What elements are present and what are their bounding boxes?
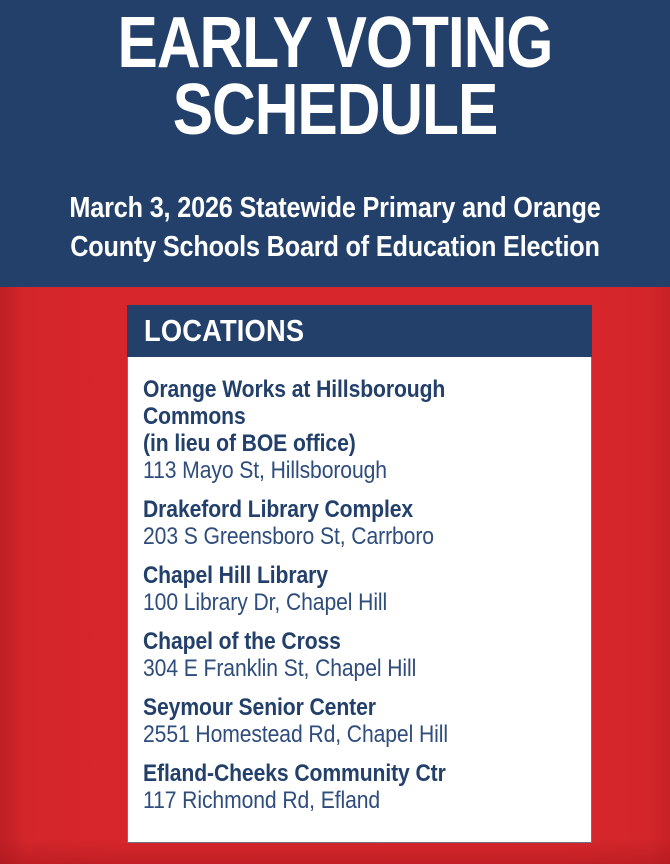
- location-name: Seymour Senior Center: [143, 694, 526, 721]
- locations-header-label: LOCATIONS: [144, 314, 304, 348]
- location-name: Drakeford Library Complex: [143, 496, 526, 523]
- early-voting-poster: EARLY VOTING SCHEDULE March 3, 2026 Stat…: [0, 0, 670, 864]
- locations-card-header: LOCATIONS: [127, 305, 592, 357]
- poster-title-line-1: EARLY VOTING: [54, 10, 617, 77]
- locations-list: Orange Works at Hillsborough Commons (in…: [127, 357, 592, 843]
- poster-subtitle-line-1: March 3, 2026 Statewide Primary and Oran…: [44, 189, 627, 228]
- location-address: 2551 Homestead Rd, Chapel Hill: [143, 721, 526, 749]
- location-address: 304 E Franklin St, Chapel Hill: [143, 655, 526, 683]
- list-item: Orange Works at Hillsborough Commons (in…: [143, 376, 578, 485]
- location-name: Efland-Cheeks Community Ctr: [143, 760, 526, 787]
- list-item: Efland-Cheeks Community Ctr 117 Richmond…: [143, 760, 578, 815]
- location-address: 117 Richmond Rd, Efland: [143, 787, 526, 815]
- list-item: Chapel Hill Library 100 Library Dr, Chap…: [143, 562, 578, 617]
- location-name: Chapel Hill Library: [143, 562, 526, 589]
- location-address: 100 Library Dr, Chapel Hill: [143, 589, 526, 617]
- poster-subtitle-block: March 3, 2026 Statewide Primary and Oran…: [0, 189, 670, 268]
- location-address: 203 S Greensboro St, Carrboro: [143, 523, 526, 551]
- poster-header-band: EARLY VOTING SCHEDULE March 3, 2026 Stat…: [0, 0, 670, 287]
- poster-title-line-2: SCHEDULE: [54, 77, 617, 144]
- poster-title-block: EARLY VOTING SCHEDULE: [0, 10, 670, 144]
- list-item: Chapel of the Cross 304 E Franklin St, C…: [143, 628, 578, 683]
- list-item: Drakeford Library Complex 203 S Greensbo…: [143, 496, 578, 551]
- location-name: Orange Works at Hillsborough Commons (in…: [143, 376, 526, 457]
- list-item: Seymour Senior Center 2551 Homestead Rd,…: [143, 694, 578, 749]
- location-address: 113 Mayo St, Hillsborough: [143, 457, 526, 485]
- poster-subtitle-line-2: County Schools Board of Education Electi…: [44, 228, 627, 267]
- location-name: Chapel of the Cross: [143, 628, 526, 655]
